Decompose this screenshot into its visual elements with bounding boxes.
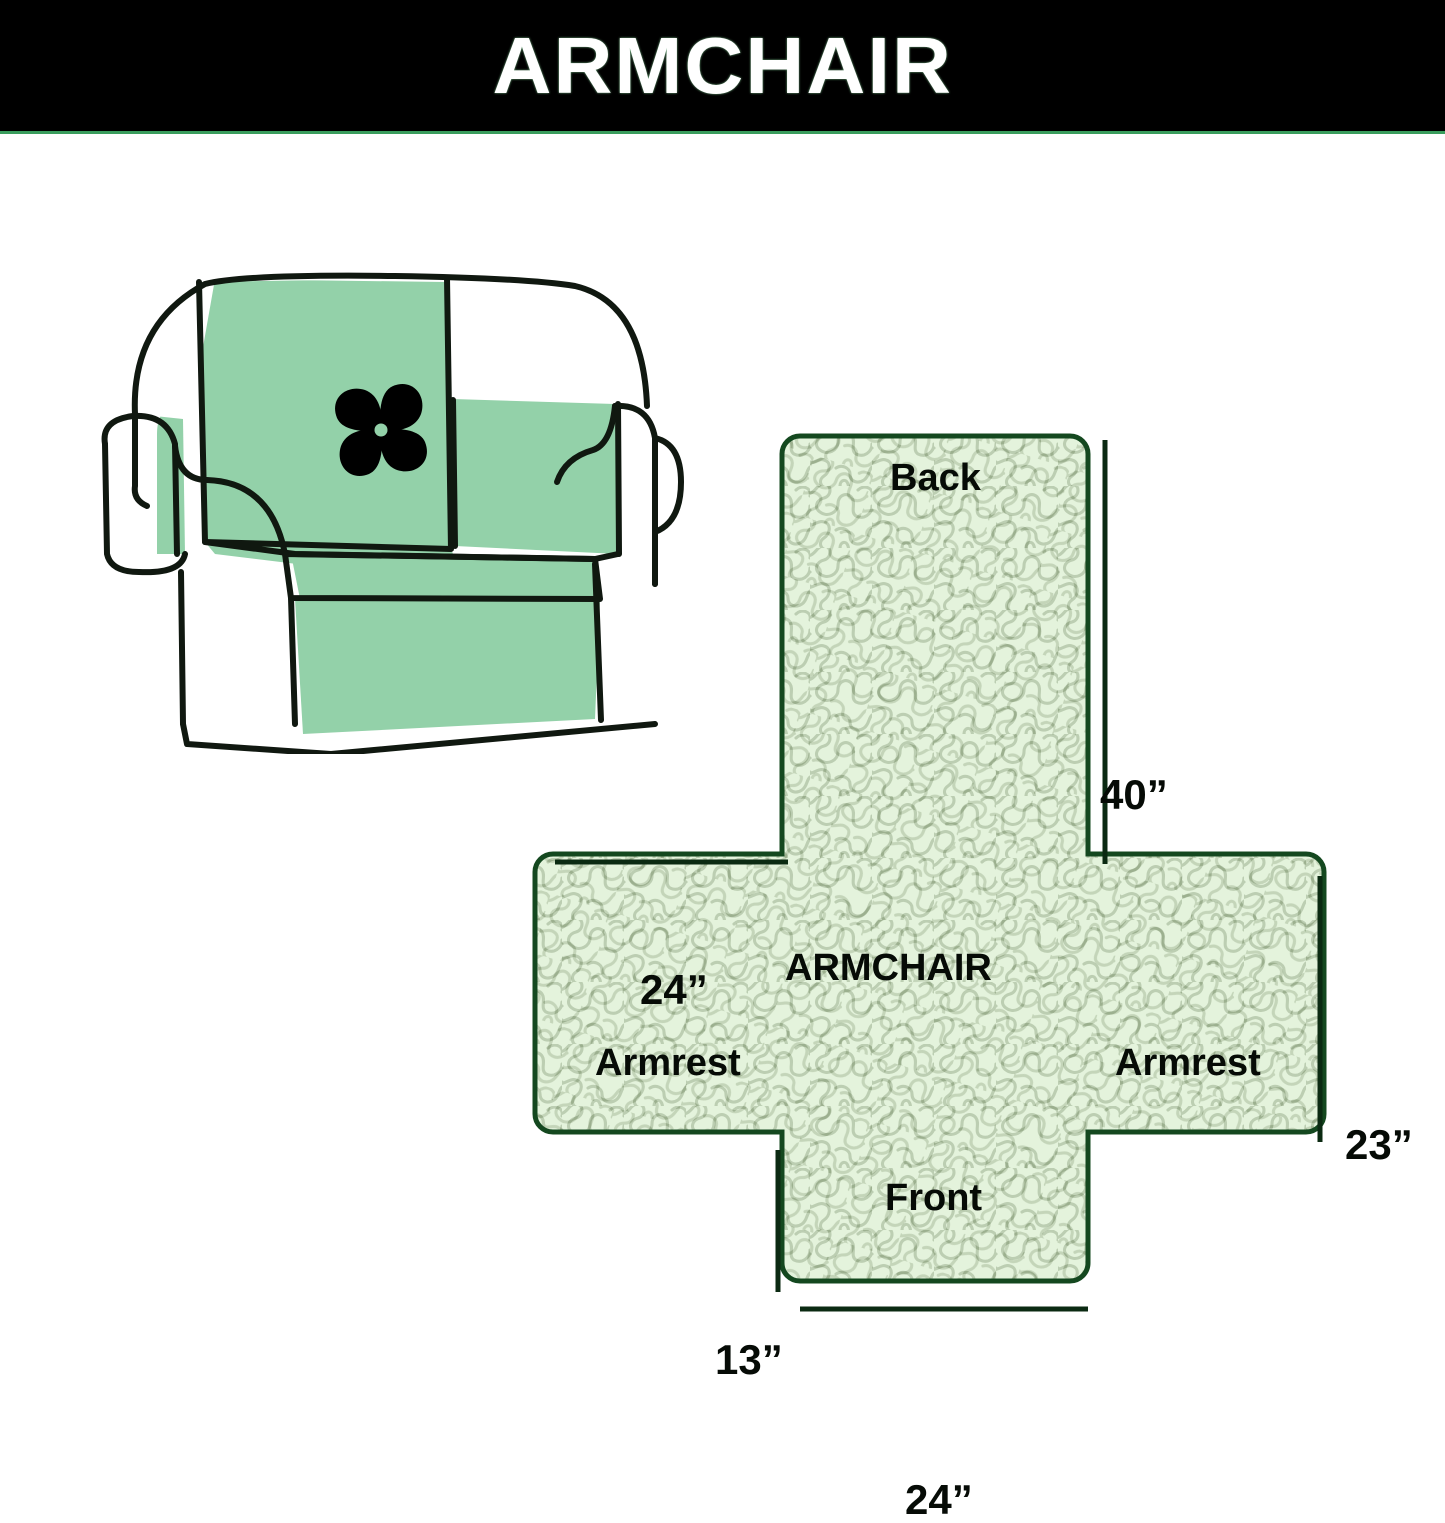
diagram-canvas: Back ARMCHAIR Armrest Armrest Front 40” … bbox=[0, 134, 1445, 1445]
dimension-label-armrest-height: 23” bbox=[1345, 1124, 1413, 1166]
page-header: ARMCHAIR bbox=[0, 0, 1445, 131]
fan-hub-icon bbox=[375, 424, 388, 437]
dimension-label-back-height: 40” bbox=[1100, 774, 1168, 816]
dimension-label-front-height: 13” bbox=[715, 1339, 783, 1381]
cover-layout-diagram: Back ARMCHAIR Armrest Armrest Front 40” … bbox=[500, 424, 1445, 1434]
dimension-label-front-width: 24” bbox=[905, 1479, 973, 1521]
center-label: ARMCHAIR bbox=[785, 949, 992, 987]
panel-label-armrest-right: Armrest bbox=[1115, 1044, 1261, 1082]
cover-layout-svg bbox=[500, 424, 1445, 1434]
panel-label-armrest-left: Armrest bbox=[595, 1044, 741, 1082]
dimension-label-back-width: 24” bbox=[640, 969, 708, 1011]
panel-label-back: Back bbox=[890, 459, 981, 497]
page-title: ARMCHAIR bbox=[492, 26, 953, 106]
panel-label-front: Front bbox=[885, 1179, 982, 1217]
